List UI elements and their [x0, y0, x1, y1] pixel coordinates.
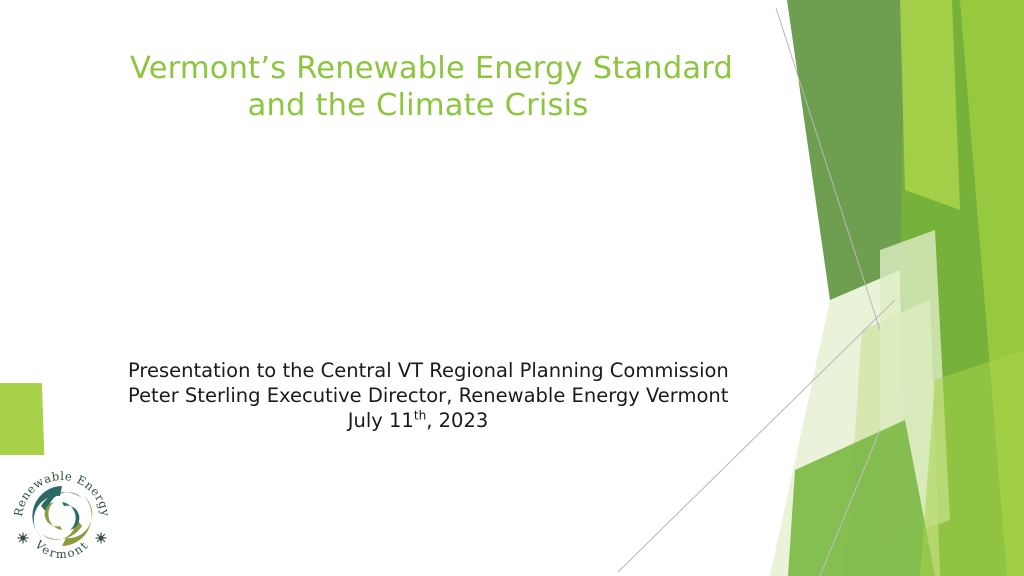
subtitle-line-date: July 11th, 2023 [128, 409, 708, 434]
facet-light-lower [788, 420, 935, 576]
facet-mid-green [842, 0, 1007, 576]
facet-paler [880, 230, 950, 545]
slide-title-line-2: and the Climate Crisis [128, 87, 708, 124]
facet-palest [770, 270, 905, 576]
facet-overlay-bottom [920, 350, 1024, 576]
renewable-energy-vermont-logo-icon: Renewable Energy Vermont [8, 462, 116, 570]
slide-title: Vermont’s Renewable Energy Standard and … [128, 50, 708, 124]
logo-container: Renewable Energy Vermont [0, 455, 127, 576]
subtitle-date-suffix: , 2023 [426, 409, 488, 432]
facet-dark-tail [861, 270, 918, 500]
hairline-upper [776, 8, 880, 330]
subtitle-line-presenter: Peter Sterling Executive Director, Renew… [128, 384, 708, 409]
logo-star-right-icon [96, 533, 107, 544]
facet-pale-mid [845, 300, 940, 576]
subtitle-line-presentation: Presentation to the Central VT Regional … [128, 359, 708, 384]
slide-subtitle: Presentation to the Central VT Regional … [128, 359, 708, 433]
hairline-lower [618, 300, 895, 572]
hairline-bottom [820, 430, 880, 576]
subtitle-date-ordinal: th [414, 408, 426, 422]
facet-pale-sliver-top [900, 0, 960, 210]
logo-star-left-icon [18, 533, 29, 544]
slide-title-line-1: Vermont’s Renewable Energy Standard [128, 50, 708, 87]
subtitle-date-prefix: July 11 [348, 409, 414, 432]
facet-bright-right [905, 0, 1024, 576]
facet-dark-wedge [787, 0, 905, 392]
presentation-slide: Renewable Energy Vermont [0, 0, 1024, 576]
